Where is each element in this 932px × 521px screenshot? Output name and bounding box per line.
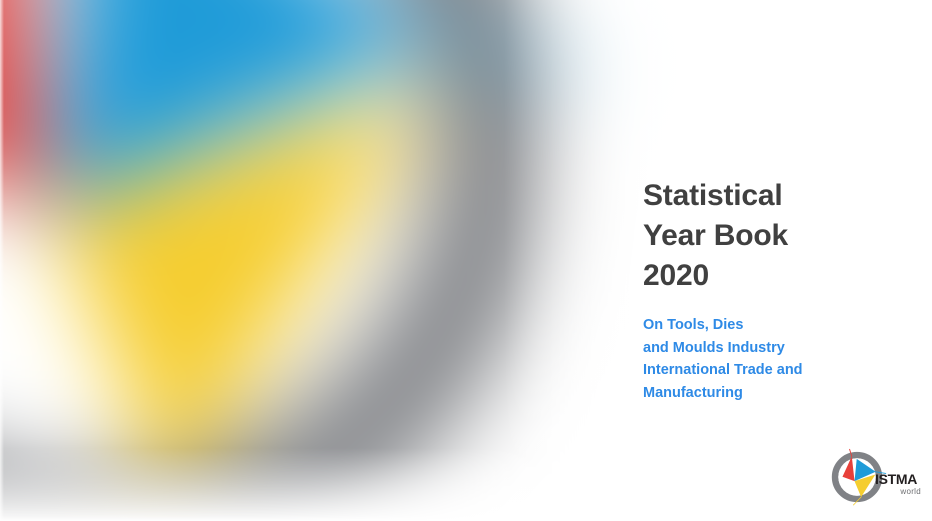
page-title-line-3: 2020	[643, 256, 923, 296]
istma-logo: ISTMA world	[826, 446, 928, 508]
cover-subtitle: On Tools, Dies and Moulds Industry Inter…	[643, 314, 923, 404]
istma-logo-text: ISTMA world	[875, 472, 931, 497]
artwork-blurred-emblem	[0, 0, 660, 521]
subtitle-line-2: and Moulds Industry	[643, 337, 923, 360]
subtitle-line-1: On Tools, Dies	[643, 314, 923, 337]
page-title-line-2: Year Book	[643, 216, 923, 256]
page-title-line-1: Statistical	[643, 176, 923, 216]
cover-title-block: Statistical Year Book 2020 On Tools, Die…	[643, 176, 923, 404]
artwork-emblem-svg	[0, 0, 660, 521]
istma-logo-tagline: world	[875, 487, 921, 497]
cover-page: Statistical Year Book 2020 On Tools, Die…	[0, 0, 932, 521]
subtitle-line-3: International Trade and	[643, 359, 923, 382]
istma-logo-name: ISTMA	[875, 472, 931, 487]
cover-artwork	[0, 0, 700, 521]
subtitle-line-4: Manufacturing	[643, 382, 923, 405]
